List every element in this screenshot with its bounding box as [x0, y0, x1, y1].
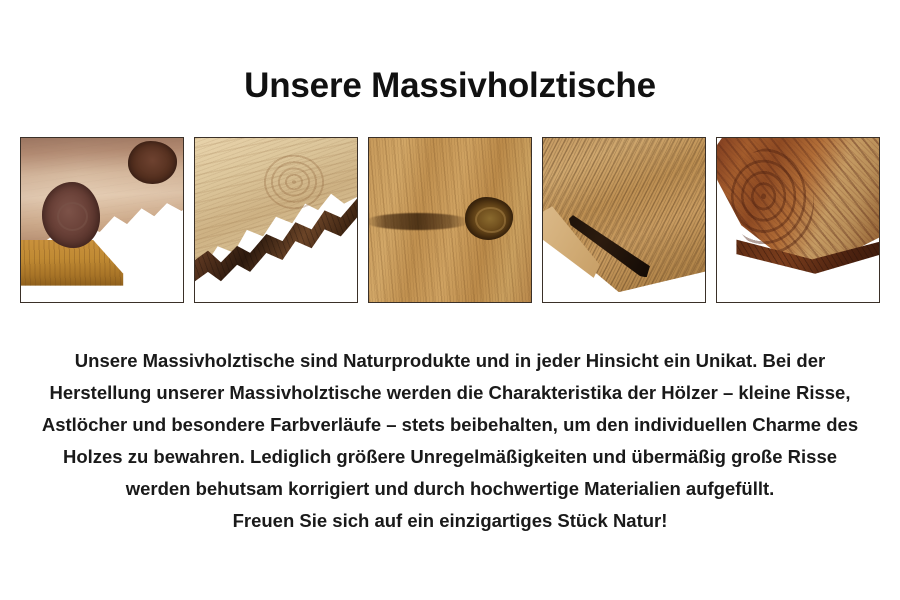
body-line: werden behutsam korrigiert und durch hoc… — [20, 473, 880, 505]
gallery-panel-3[interactable] — [368, 137, 532, 303]
knot-icon — [465, 197, 514, 240]
grain-streak — [369, 213, 469, 229]
grain-swirl — [730, 148, 814, 253]
rough-sawn-board-crack-image — [543, 138, 705, 302]
body-line: Unsere Massivholztische sind Naturproduk… — [20, 345, 880, 377]
body-line: Astlöcher und besondere Farbverläufe – s… — [20, 409, 880, 441]
wood-slab-burl-image — [21, 138, 183, 302]
body-copy: Unsere Massivholztische sind Naturproduk… — [20, 345, 880, 537]
board-surface — [543, 138, 705, 292]
gallery-panel-4[interactable] — [542, 137, 706, 303]
gallery-panel-2[interactable] — [194, 137, 358, 303]
wood-grain-knot-image — [369, 138, 531, 302]
image-gallery-strip — [20, 137, 880, 303]
gallery-panel-5[interactable] — [716, 137, 880, 303]
page-title: Unsere Massivholztische — [0, 0, 900, 105]
body-line: Holzes zu bewahren. Lediglich größere Un… — [20, 441, 880, 473]
pale-board-live-edge-image — [195, 138, 357, 302]
body-line: Freuen Sie sich auf ein einzigartiges St… — [20, 505, 880, 537]
body-line: Herstellung unserer Massivholztische wer… — [20, 377, 880, 409]
gallery-panel-1[interactable] — [20, 137, 184, 303]
sheesham-slab-image — [717, 138, 879, 302]
secondary-knot-icon — [128, 141, 177, 184]
burl-knot-icon — [42, 182, 100, 248]
product-info-banner: Unsere Massivholztische — [0, 0, 900, 600]
